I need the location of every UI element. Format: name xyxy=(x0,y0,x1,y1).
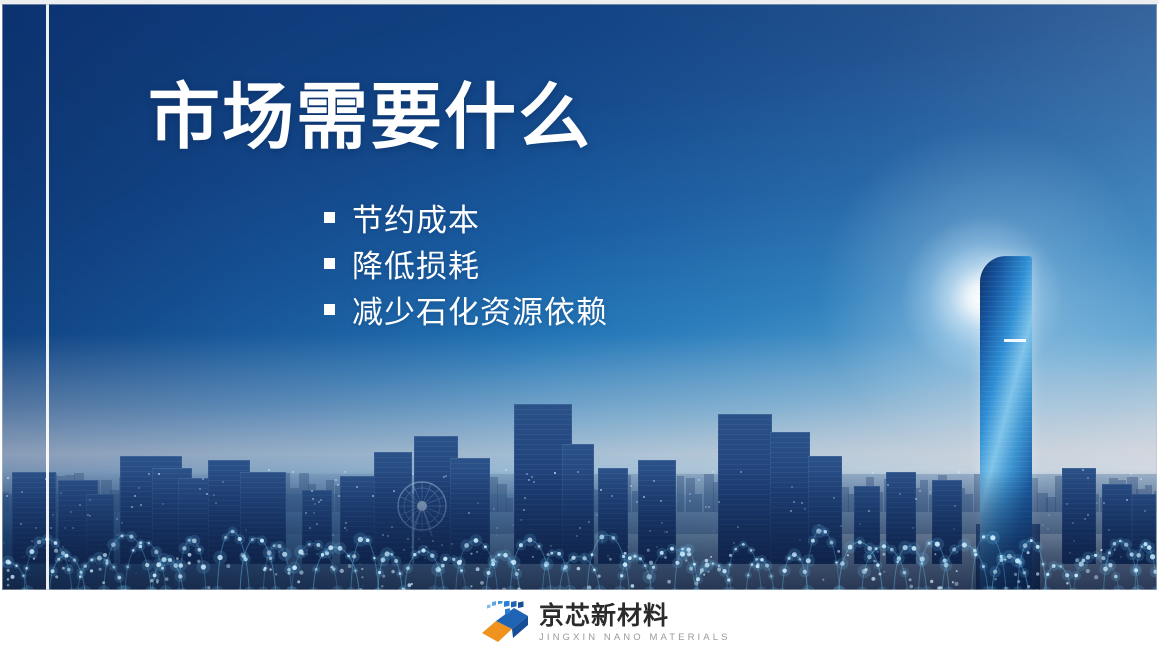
logo-subtitle-en: JINGXIN NANO MATERIALS xyxy=(539,632,731,643)
bullet-label: 减少石化资源依赖 xyxy=(352,287,608,332)
network-arcs-overlay xyxy=(2,480,1157,590)
list-item: 减少石化资源依赖 xyxy=(324,286,608,332)
logo-text-block: 京芯新材料 JINGXIN NANO MATERIALS xyxy=(539,603,731,642)
bullet-square-icon xyxy=(324,258,335,269)
list-item: 节约成本 xyxy=(324,194,608,240)
page-title: 市场需要什么 xyxy=(148,82,592,155)
slide-canvas: 市场需要什么 节约成本降低损耗减少石化资源依赖 xyxy=(0,0,1159,659)
bullet-square-icon xyxy=(324,212,335,223)
footer-bar: 京芯新材料 JINGXIN NANO MATERIALS xyxy=(0,590,1159,659)
pixel-diamond-logo-icon xyxy=(478,601,530,645)
bullet-list: 节约成本降低损耗减少石化资源依赖 xyxy=(324,194,608,332)
list-item: 降低损耗 xyxy=(324,240,608,286)
bullet-square-icon xyxy=(324,304,335,315)
logo-title-cn: 京芯新材料 xyxy=(539,603,731,629)
company-logo: 京芯新材料 JINGXIN NANO MATERIALS xyxy=(478,601,731,645)
bullet-label: 降低损耗 xyxy=(352,241,480,286)
left-accent-line xyxy=(46,4,49,590)
tower-highlight-band xyxy=(1004,339,1026,342)
hero-image: 市场需要什么 节约成本降低损耗减少石化资源依赖 xyxy=(2,4,1157,590)
bullet-label: 节约成本 xyxy=(352,195,480,240)
